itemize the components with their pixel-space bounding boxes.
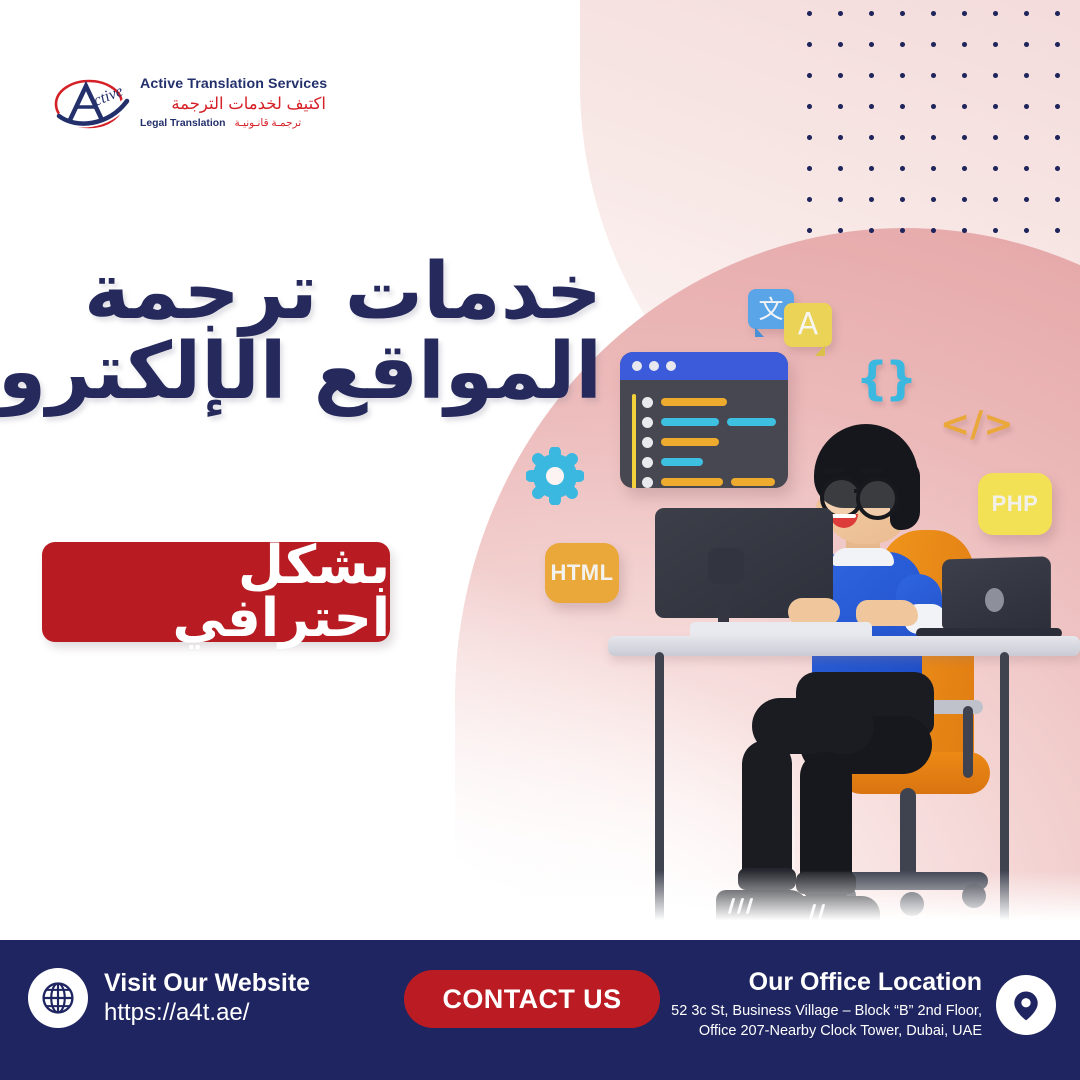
code-row bbox=[632, 414, 776, 430]
laptop-logo bbox=[985, 588, 1004, 612]
code-segment bbox=[731, 478, 775, 486]
office-chair-post bbox=[900, 788, 916, 880]
eyeglasses-right-lens bbox=[856, 477, 899, 520]
latin-character-glyph: A bbox=[798, 310, 819, 340]
office-address-line-2: Office 207-Nearby Clock Tower, Dubai, UA… bbox=[671, 1021, 982, 1042]
cjk-character-glyph: 文 bbox=[758, 297, 783, 322]
code-lines-area bbox=[620, 380, 788, 488]
code-segment bbox=[727, 418, 776, 426]
curly-braces-icon: {} bbox=[856, 352, 914, 405]
office-location-block: Our Office Location 52 3c St, Business V… bbox=[671, 968, 1056, 1042]
office-text: Our Office Location 52 3c St, Business V… bbox=[671, 968, 982, 1042]
code-bullet bbox=[642, 477, 653, 488]
code-bullet bbox=[642, 437, 653, 448]
code-segment bbox=[661, 418, 719, 426]
person-collar bbox=[832, 548, 894, 566]
code-segment bbox=[661, 398, 727, 406]
gear-icon bbox=[526, 447, 584, 505]
php-tile: PHP bbox=[978, 473, 1052, 535]
office-address-line-1: 52 3c St, Business Village – Block “B” 2… bbox=[671, 1001, 982, 1022]
code-row bbox=[632, 454, 776, 470]
html-tile: HTML bbox=[545, 543, 619, 603]
office-title: Our Office Location bbox=[671, 968, 982, 997]
window-dot-maximize bbox=[666, 361, 676, 371]
translate-bubble-latin: A bbox=[784, 303, 832, 347]
contact-us-button[interactable]: CONTACT US bbox=[404, 970, 660, 1028]
code-segment bbox=[661, 458, 703, 466]
code-row bbox=[632, 434, 776, 450]
code-editor-window bbox=[620, 352, 788, 488]
footer-bar: Visit Our Website https://a4t.ae/ CONTAC… bbox=[0, 940, 1080, 1080]
website-url[interactable]: https://a4t.ae/ bbox=[104, 999, 310, 1028]
code-bullet bbox=[642, 417, 653, 428]
code-segment bbox=[661, 478, 723, 486]
footer-fade-overlay bbox=[0, 870, 1080, 940]
code-bullet bbox=[642, 457, 653, 468]
code-gutter-rail bbox=[632, 394, 636, 488]
desk-surface bbox=[608, 636, 1080, 656]
code-row bbox=[632, 394, 776, 410]
code-tag-icon: </> bbox=[940, 404, 1013, 445]
window-dot-minimize bbox=[649, 361, 659, 371]
code-segment bbox=[661, 438, 719, 446]
eyeglasses-bridge bbox=[854, 489, 860, 493]
developer-illustration: 文 A bbox=[0, 0, 1080, 940]
website-block[interactable]: Visit Our Website https://a4t.ae/ bbox=[28, 968, 310, 1028]
website-text: Visit Our Website https://a4t.ae/ bbox=[104, 969, 310, 1028]
window-titlebar bbox=[620, 352, 788, 380]
website-title: Visit Our Website bbox=[104, 969, 310, 997]
location-pin-icon bbox=[996, 975, 1056, 1035]
window-dot-close bbox=[632, 361, 642, 371]
office-chair-armrest-stem bbox=[963, 706, 973, 778]
code-bullet bbox=[642, 397, 653, 408]
code-row bbox=[632, 474, 776, 488]
globe-icon bbox=[28, 968, 88, 1028]
promo-poster: ctive Active Translation Services اكتيف … bbox=[0, 0, 1080, 1080]
monitor-mount bbox=[708, 548, 744, 584]
